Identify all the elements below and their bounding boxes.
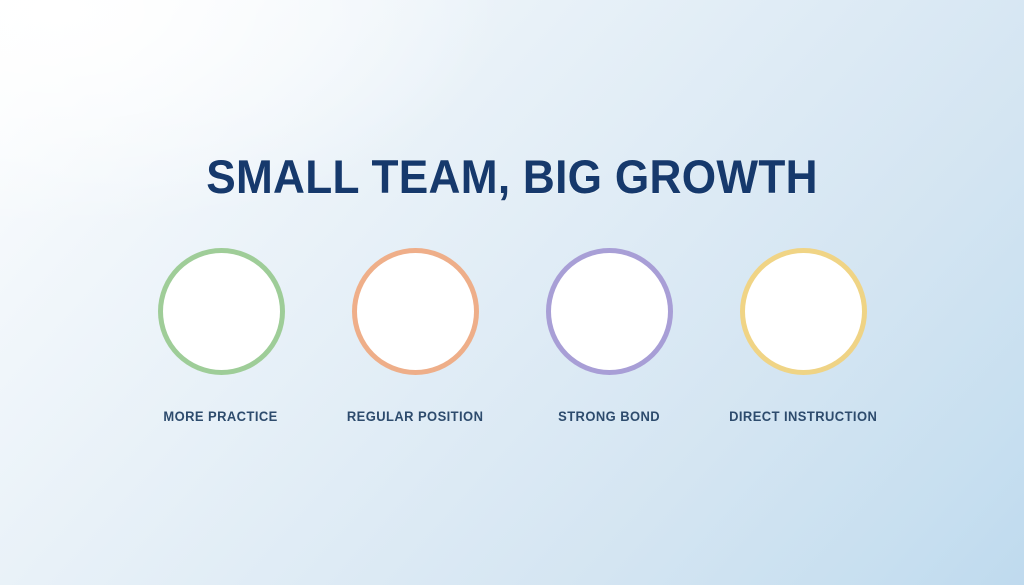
badge-fill <box>169 259 274 364</box>
badge-direct-instruction[interactable] <box>740 248 867 375</box>
feature-card-direct-instruction[interactable]: DIRECT INSTRUCTION <box>738 248 868 424</box>
coach-whiteboard-icon <box>769 278 837 346</box>
feature-card-more-practice[interactable]: MORE PRACTICE <box>156 248 286 424</box>
feature-card-regular-position[interactable]: REGULAR POSITION <box>350 248 480 424</box>
badge-strong-bond[interactable] <box>546 248 673 375</box>
feature-card-strong-bond[interactable]: STRONG BOND <box>544 248 674 424</box>
badge-fill <box>751 259 856 364</box>
page-title: SMALL TEAM, BIG GROWTH <box>31 152 994 201</box>
feature-card-row: MORE PRACTICE <box>112 248 912 424</box>
badge-more-practice[interactable] <box>158 248 285 375</box>
baseball-field-icon <box>381 278 449 346</box>
feature-card-label: STRONG BOND <box>558 409 660 424</box>
badge-fill <box>363 259 468 364</box>
badge-regular-position[interactable] <box>352 248 479 375</box>
feature-card-label: REGULAR POSITION <box>347 409 484 424</box>
handshake-icon <box>575 278 643 346</box>
baseball-batter-icon <box>187 278 255 346</box>
feature-card-label: DIRECT INSTRUCTION <box>729 409 877 424</box>
badge-fill <box>557 259 662 364</box>
slide-canvas: SMALL TEAM, BIG GROWTH <box>0 0 1024 585</box>
feature-card-label: MORE PRACTICE <box>164 409 278 424</box>
